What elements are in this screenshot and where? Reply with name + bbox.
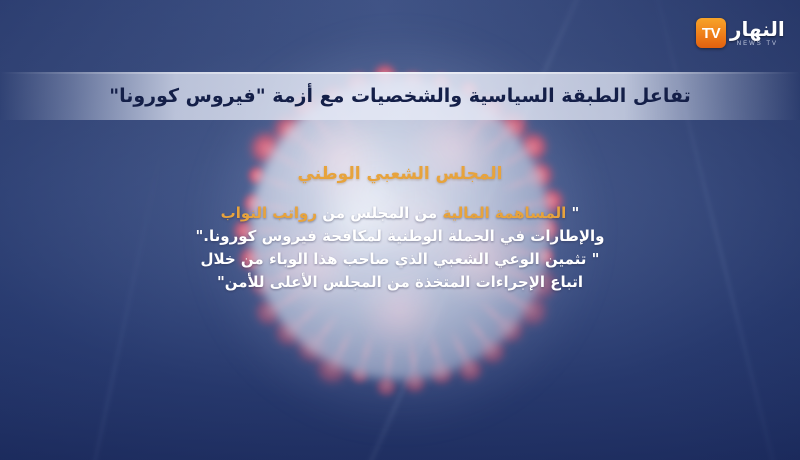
channel-logo: TV النهار NEWS TV: [696, 10, 788, 56]
background-light-streak: [47, 144, 164, 460]
channel-wordmark: النهار NEWS TV: [730, 19, 785, 47]
quote-line: " تثمين الوعي الشعبي الذي صاحب هذا الوبا…: [0, 248, 800, 271]
channel-tagline: NEWS TV: [737, 41, 778, 47]
quote-line: والإطارات في الحملة الوطنية لمكافحة فيرو…: [0, 225, 800, 248]
headline-title: تفاعل الطبقة السياسية والشخصيات مع أزمة …: [0, 76, 800, 116]
quote-highlight-text: رواتب النواب: [221, 204, 317, 222]
tv-badge-icon: TV: [696, 18, 726, 48]
quote-text: اتباع الإجراءات المتخذة من المجلس الأعلى…: [217, 273, 583, 291]
quote-block: " المساهمة المالية من المجلس من رواتب ال…: [0, 202, 800, 294]
quote-highlight-text: المساهمة المالية: [437, 204, 566, 222]
quote-text: " تثمين الوعي الشعبي الذي صاحب هذا الوبا…: [201, 250, 600, 268]
banner-top-edge: [0, 72, 800, 74]
channel-name-arabic: النهار: [730, 19, 785, 39]
quote-line: اتباع الإجراءات المتخذة من المجلس الأعلى…: [0, 271, 800, 294]
quote-text: ": [566, 204, 579, 222]
quote-text: من المجلس من: [317, 204, 437, 222]
source-institution-label: المجلس الشعبي الوطني: [0, 162, 800, 186]
quote-text: والإطارات في الحملة الوطنية لمكافحة فيرو…: [195, 227, 604, 245]
quote-line: " المساهمة المالية من المجلس من رواتب ال…: [0, 202, 800, 225]
broadcast-screen: تفاعل الطبقة السياسية والشخصيات مع أزمة …: [0, 0, 800, 460]
